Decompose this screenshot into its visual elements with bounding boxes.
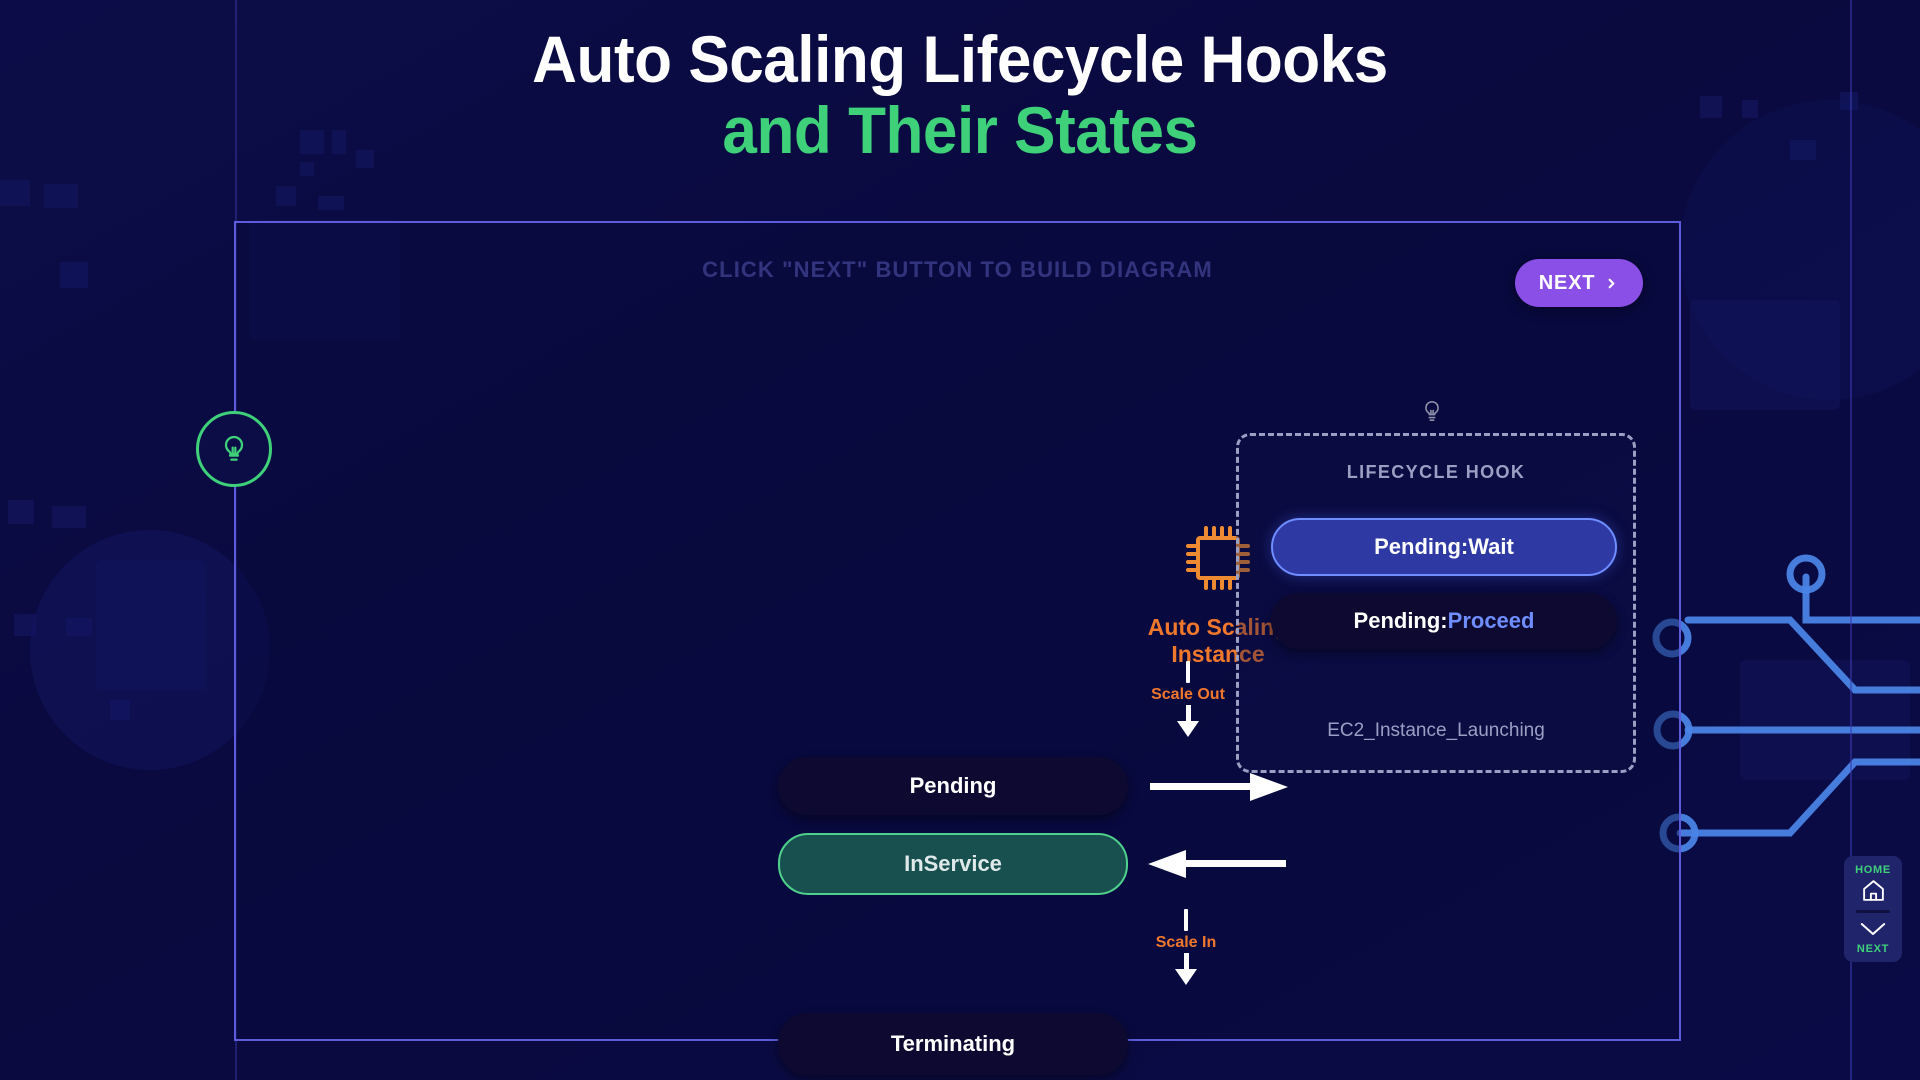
arrow-down-icon	[1175, 969, 1197, 985]
lifecycle-hook-title: LIFECYCLE HOOK	[1239, 462, 1633, 483]
connector-scale-in: Scale In	[1116, 909, 1256, 985]
next-button-label: NEXT	[1539, 272, 1596, 295]
chevron-right-icon	[1604, 276, 1619, 291]
state-inservice-label: InService	[904, 851, 1002, 877]
state-pending-proceed[interactable]: Pending:Proceed	[1271, 593, 1617, 649]
state-pending-proceed-prefix: Pending:	[1354, 608, 1448, 634]
nav-divider	[1856, 910, 1890, 913]
page-title: Auto Scaling Lifecycle Hooks and Their S…	[0, 24, 1920, 165]
chevron-down-icon[interactable]	[1858, 919, 1888, 939]
transition-arrow-pending-to-wait	[1150, 771, 1290, 803]
state-pending-proceed-suffix: Proceed	[1448, 608, 1535, 634]
state-inservice[interactable]: InService	[778, 833, 1128, 895]
connector-segment	[1186, 661, 1190, 683]
nav-home-label: HOME	[1844, 864, 1902, 876]
state-terminating-label: Terminating	[891, 1031, 1015, 1057]
build-hint-text: CLICK "NEXT" BUTTON TO BUILD DIAGRAM	[236, 257, 1679, 283]
connector-stem	[1186, 705, 1191, 721]
page-title-main: Auto Scaling Lifecycle Hooks	[58, 24, 1863, 95]
nav-next-label: NEXT	[1844, 943, 1902, 955]
arrow-down-icon	[1177, 721, 1199, 737]
page-title-accent: and Their States	[58, 95, 1863, 166]
lifecycle-hook-panel: LIFECYCLE HOOK Pending:Wait Pending:Proc…	[1236, 433, 1636, 773]
connector-stem	[1184, 953, 1189, 969]
state-pending-label: Pending	[910, 773, 997, 799]
next-button[interactable]: NEXT	[1515, 259, 1643, 307]
home-icon[interactable]	[1860, 878, 1887, 903]
hint-bulb-badge[interactable]	[196, 411, 272, 487]
connector-scale-in-label: Scale In	[1116, 934, 1256, 952]
state-pending-wait-prefix: Pending:	[1374, 534, 1468, 560]
nav-widget: HOME NEXT	[1844, 856, 1902, 962]
state-pending-wait[interactable]: Pending:Wait	[1271, 518, 1617, 576]
transition-arrow-proceed-to-inservice	[1146, 848, 1286, 880]
state-pending-wait-suffix: Wait	[1468, 534, 1514, 560]
state-pending[interactable]: Pending	[778, 757, 1128, 815]
lifecycle-hook-footer: EC2_Instance_Launching	[1239, 720, 1633, 742]
state-terminating[interactable]: Terminating	[778, 1013, 1128, 1075]
lightbulb-icon	[218, 433, 250, 465]
diagram-canvas: CLICK "NEXT" BUTTON TO BUILD DIAGRAM NEX…	[234, 221, 1681, 1041]
connector-segment	[1184, 909, 1188, 931]
